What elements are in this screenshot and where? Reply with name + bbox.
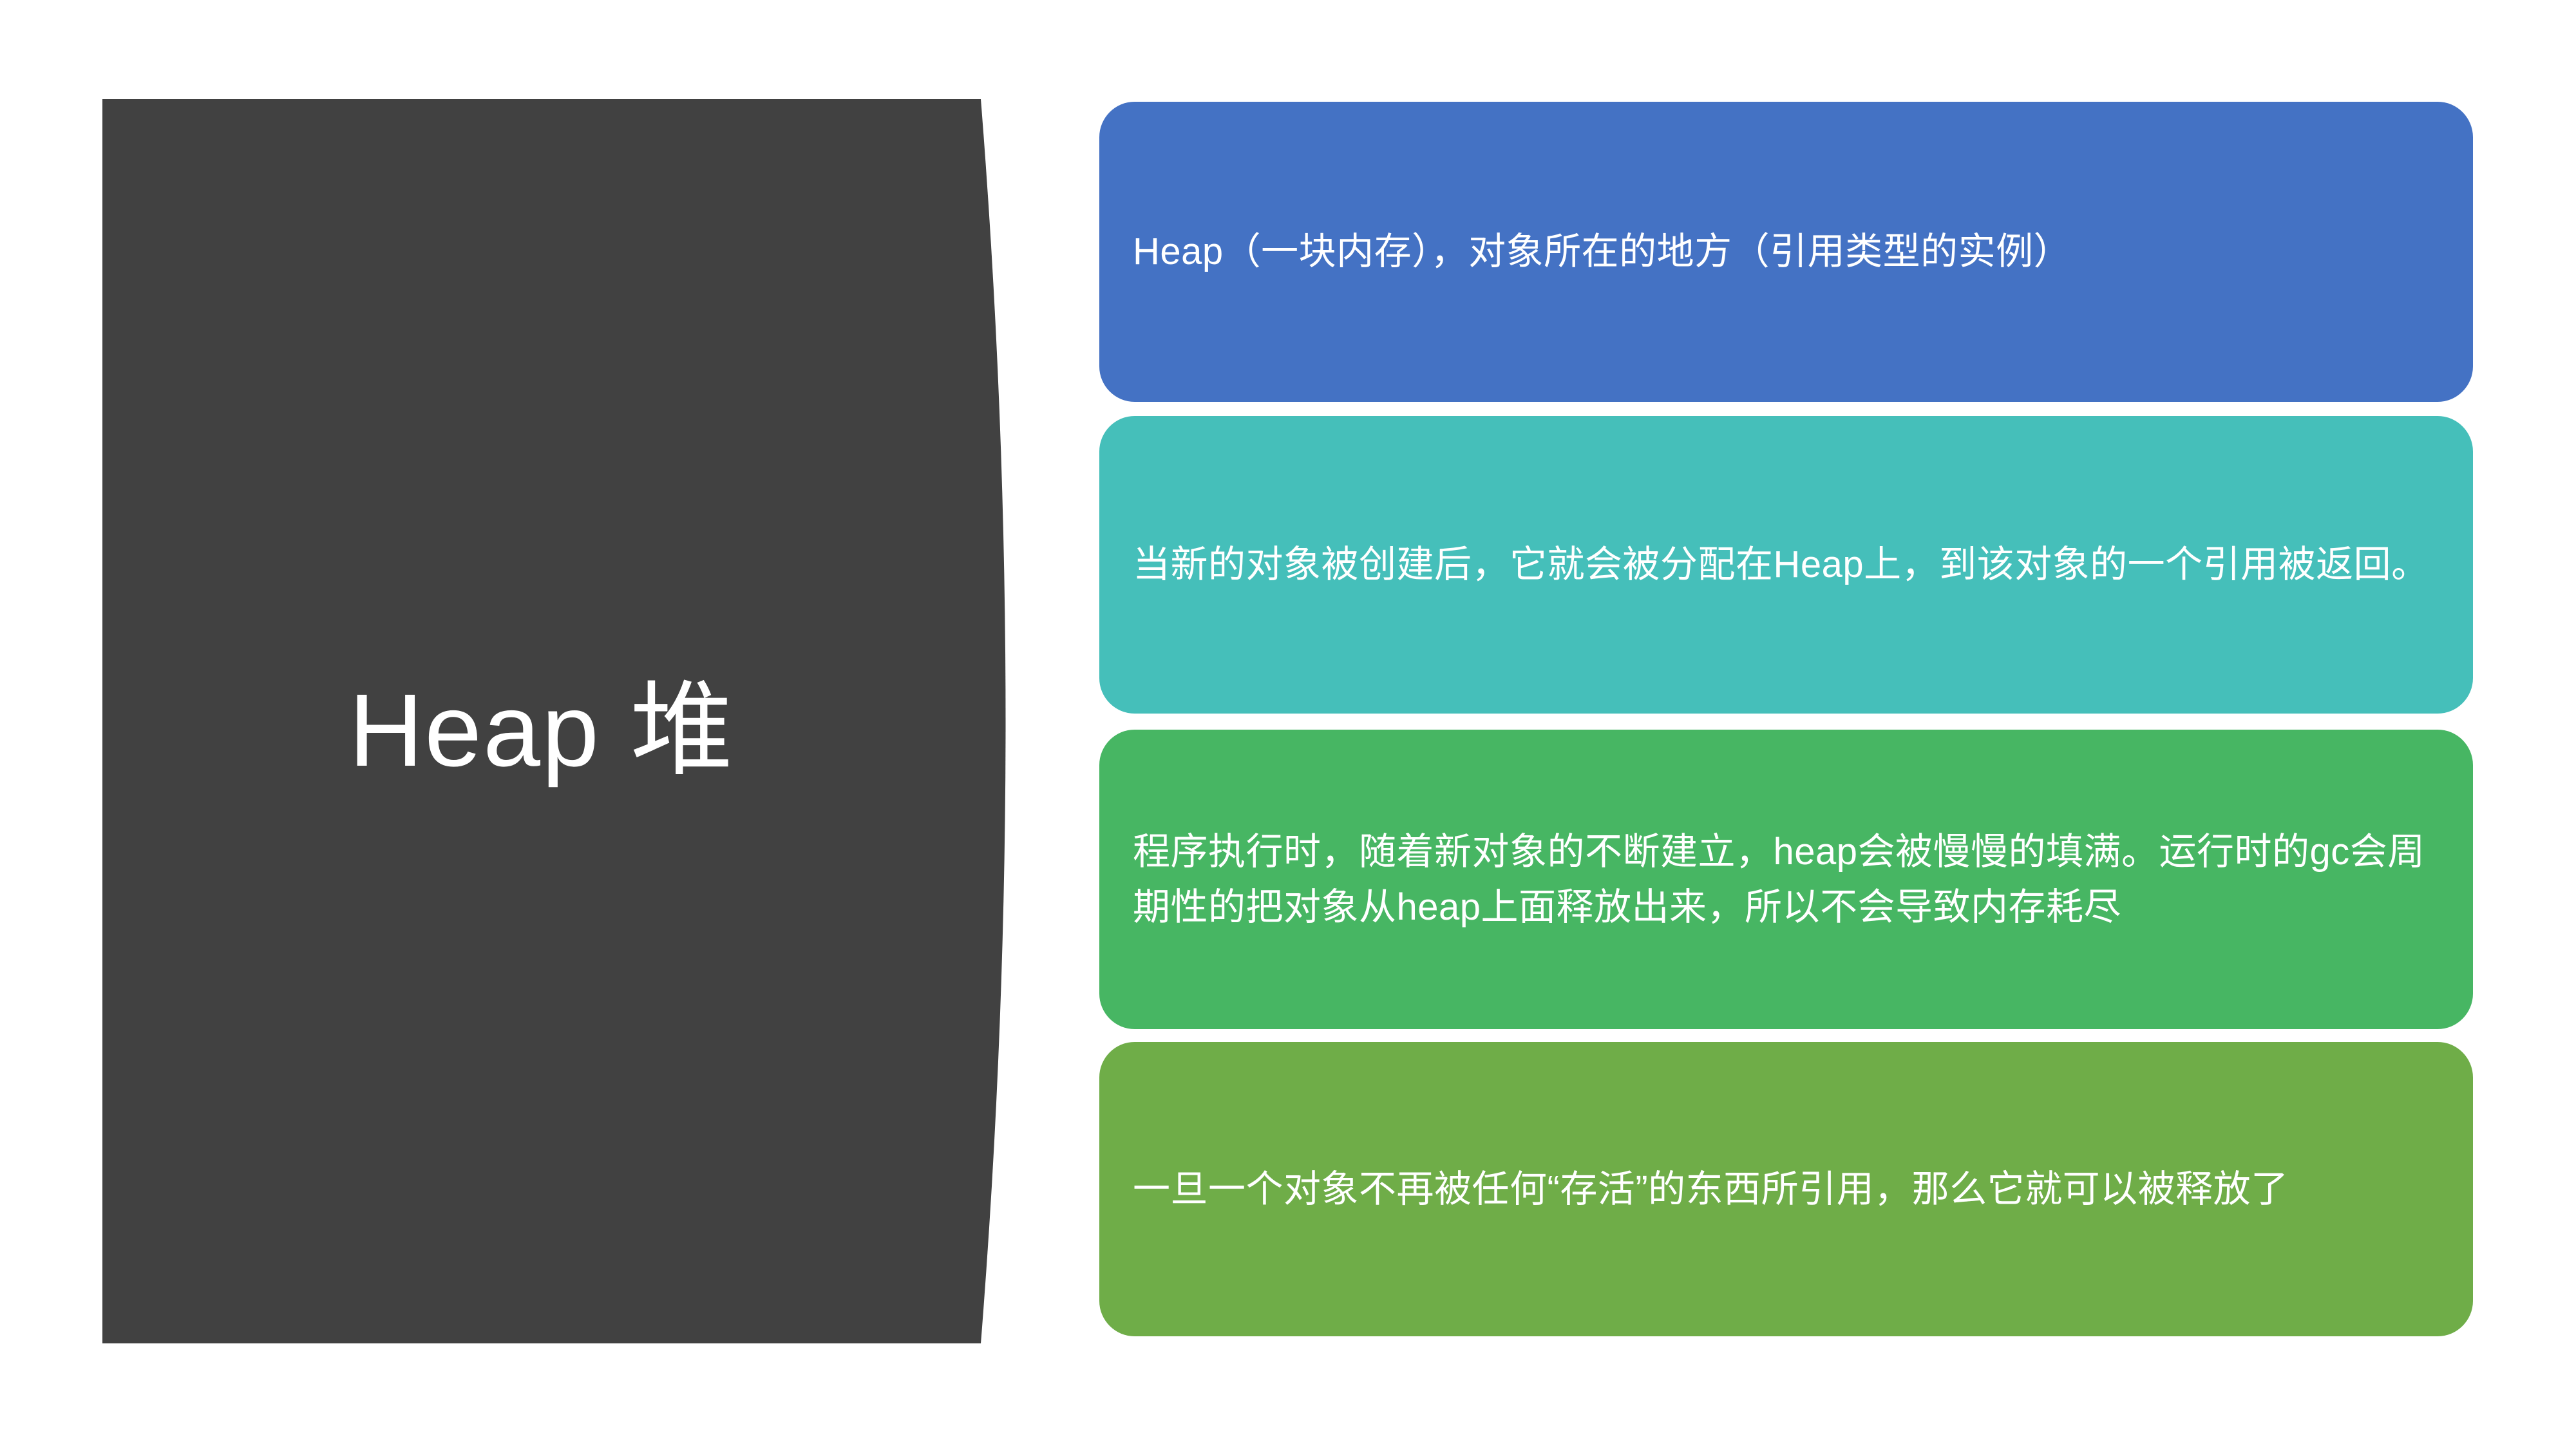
card-gc-cycle[interactable]: 程序执行时，随着新对象的不断建立，heap会被慢慢的填满。运行时的gc会周期性的… — [1099, 730, 2473, 1029]
card-unreferenced-release[interactable]: 一旦一个对象不再被任何“存活”的东西所引用，那么它就可以被释放了 — [1099, 1042, 2473, 1336]
card-text: 当新的对象被创建后，它就会被分配在Heap上，到该对象的一个引用被返回。 — [1133, 537, 2439, 592]
card-heap-definition[interactable]: Heap（一块内存），对象所在的地方（引用类型的实例） — [1099, 102, 2473, 402]
card-text: 一旦一个对象不再被任何“存活”的东西所引用，那么它就可以被释放了 — [1133, 1162, 2439, 1217]
card-text: 程序执行时，随着新对象的不断建立，heap会被慢慢的填满。运行时的gc会周期性的… — [1133, 824, 2439, 935]
page-title: Heap 堆 — [102, 99, 981, 1343]
card-object-allocation[interactable]: 当新的对象被创建后，它就会被分配在Heap上，到该对象的一个引用被返回。 — [1099, 416, 2473, 714]
title-panel: Heap 堆 — [102, 99, 1030, 1343]
card-text: Heap（一块内存），对象所在的地方（引用类型的实例） — [1133, 224, 2439, 279]
card-stack: Heap（一块内存），对象所在的地方（引用类型的实例） 当新的对象被创建后，它就… — [1099, 102, 2473, 1336]
